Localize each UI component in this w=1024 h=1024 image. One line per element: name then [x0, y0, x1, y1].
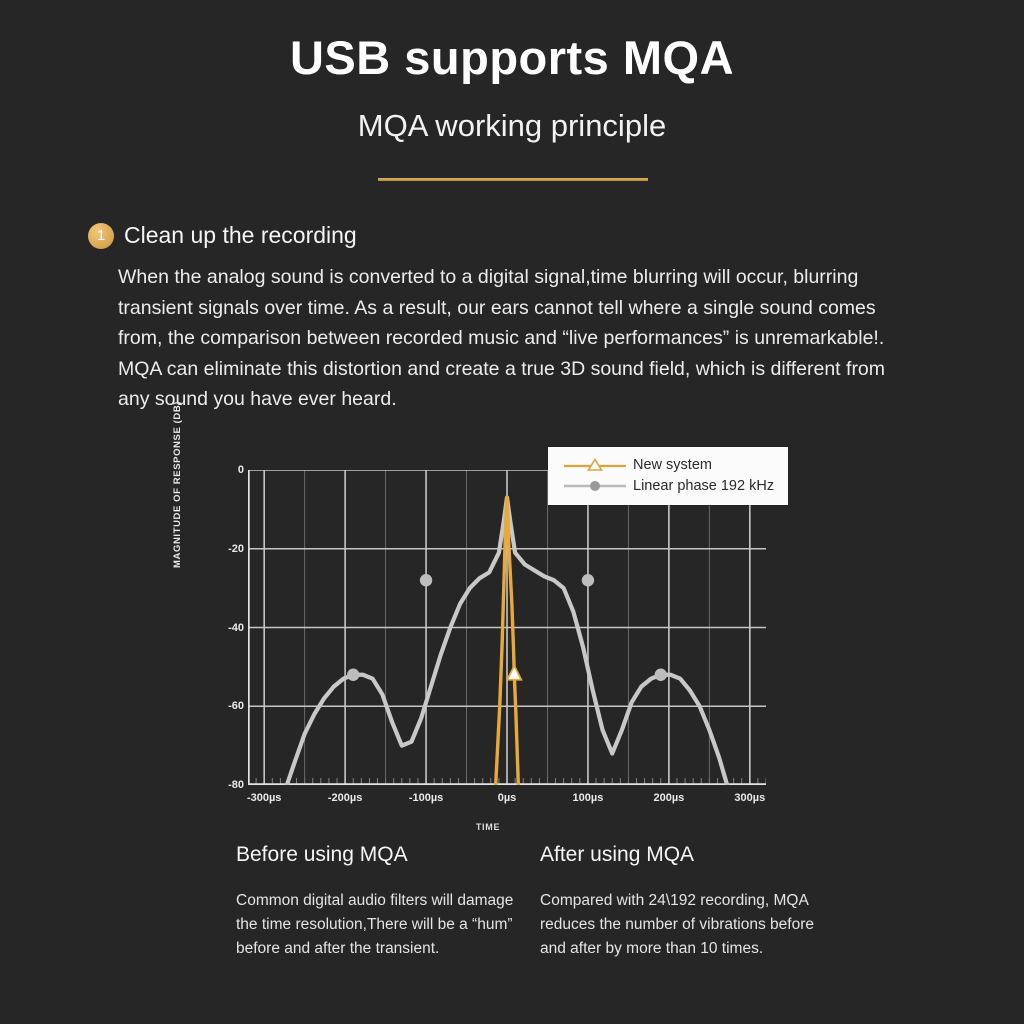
chart-x-tick-label: -300µs	[247, 792, 281, 804]
chart-x-tick-label: 100µs	[573, 792, 604, 804]
legend-item-linear-phase: Linear phase 192 kHz	[564, 478, 774, 494]
section-heading-label: Clean up the recording	[124, 222, 357, 249]
page-title: USB supports MQA	[0, 30, 1024, 85]
section-paragraph: When the analog sound is converted to a …	[118, 262, 898, 415]
chart-x-tick-label: 0µs	[498, 792, 517, 804]
chart-y-tick-label: -60	[198, 700, 244, 712]
chart-plot-area	[248, 470, 766, 785]
header-divider	[378, 178, 648, 181]
chart-y-tick-label: -80	[198, 779, 244, 791]
legend-swatch-linear-phase	[564, 479, 626, 493]
section-heading: 1 Clean up the recording	[88, 222, 357, 249]
chart-svg	[248, 470, 766, 785]
step-number-badge: 1	[88, 223, 114, 249]
legend-swatch-new-system	[564, 458, 626, 472]
chart-legend: New system Linear phase 192 kHz	[548, 447, 788, 505]
chart-x-tick-label: 200µs	[653, 792, 684, 804]
caption-before-mqa: Before using MQA Common digital audio fi…	[236, 843, 516, 961]
response-chart: MAGNITUDE OF RESPONSE (DB) 0-20-40-60-80…	[180, 450, 800, 850]
infographic-page: USB supports MQA MQA working principle 1…	[0, 0, 1024, 1024]
legend-label-new-system: New system	[633, 457, 712, 473]
chart-y-tick-label: 0	[198, 464, 244, 476]
caption-after-mqa: After using MQA Compared with 24\192 rec…	[540, 843, 820, 961]
legend-item-new-system: New system	[564, 457, 774, 473]
caption-before-body: Common digital audio filters will damage…	[236, 889, 516, 961]
section-paragraph-text: When the analog sound is converted to a …	[118, 262, 898, 415]
chart-x-tick-label: -100µs	[409, 792, 443, 804]
caption-after-body: Compared with 24\192 recording, MQA redu…	[540, 889, 820, 961]
chart-x-tick-label: -200µs	[328, 792, 362, 804]
chart-x-axis-label: TIME	[476, 822, 500, 832]
chart-y-tick-label: -40	[198, 622, 244, 634]
chart-x-tick-label: 300µs	[734, 792, 765, 804]
chart-y-ticks: 0-20-40-60-80	[180, 450, 244, 780]
caption-before-title: Before using MQA	[236, 843, 516, 867]
caption-after-title: After using MQA	[540, 843, 820, 867]
page-subtitle: MQA working principle	[0, 108, 1024, 144]
chart-y-tick-label: -20	[198, 543, 244, 555]
legend-label-linear-phase: Linear phase 192 kHz	[633, 478, 774, 494]
